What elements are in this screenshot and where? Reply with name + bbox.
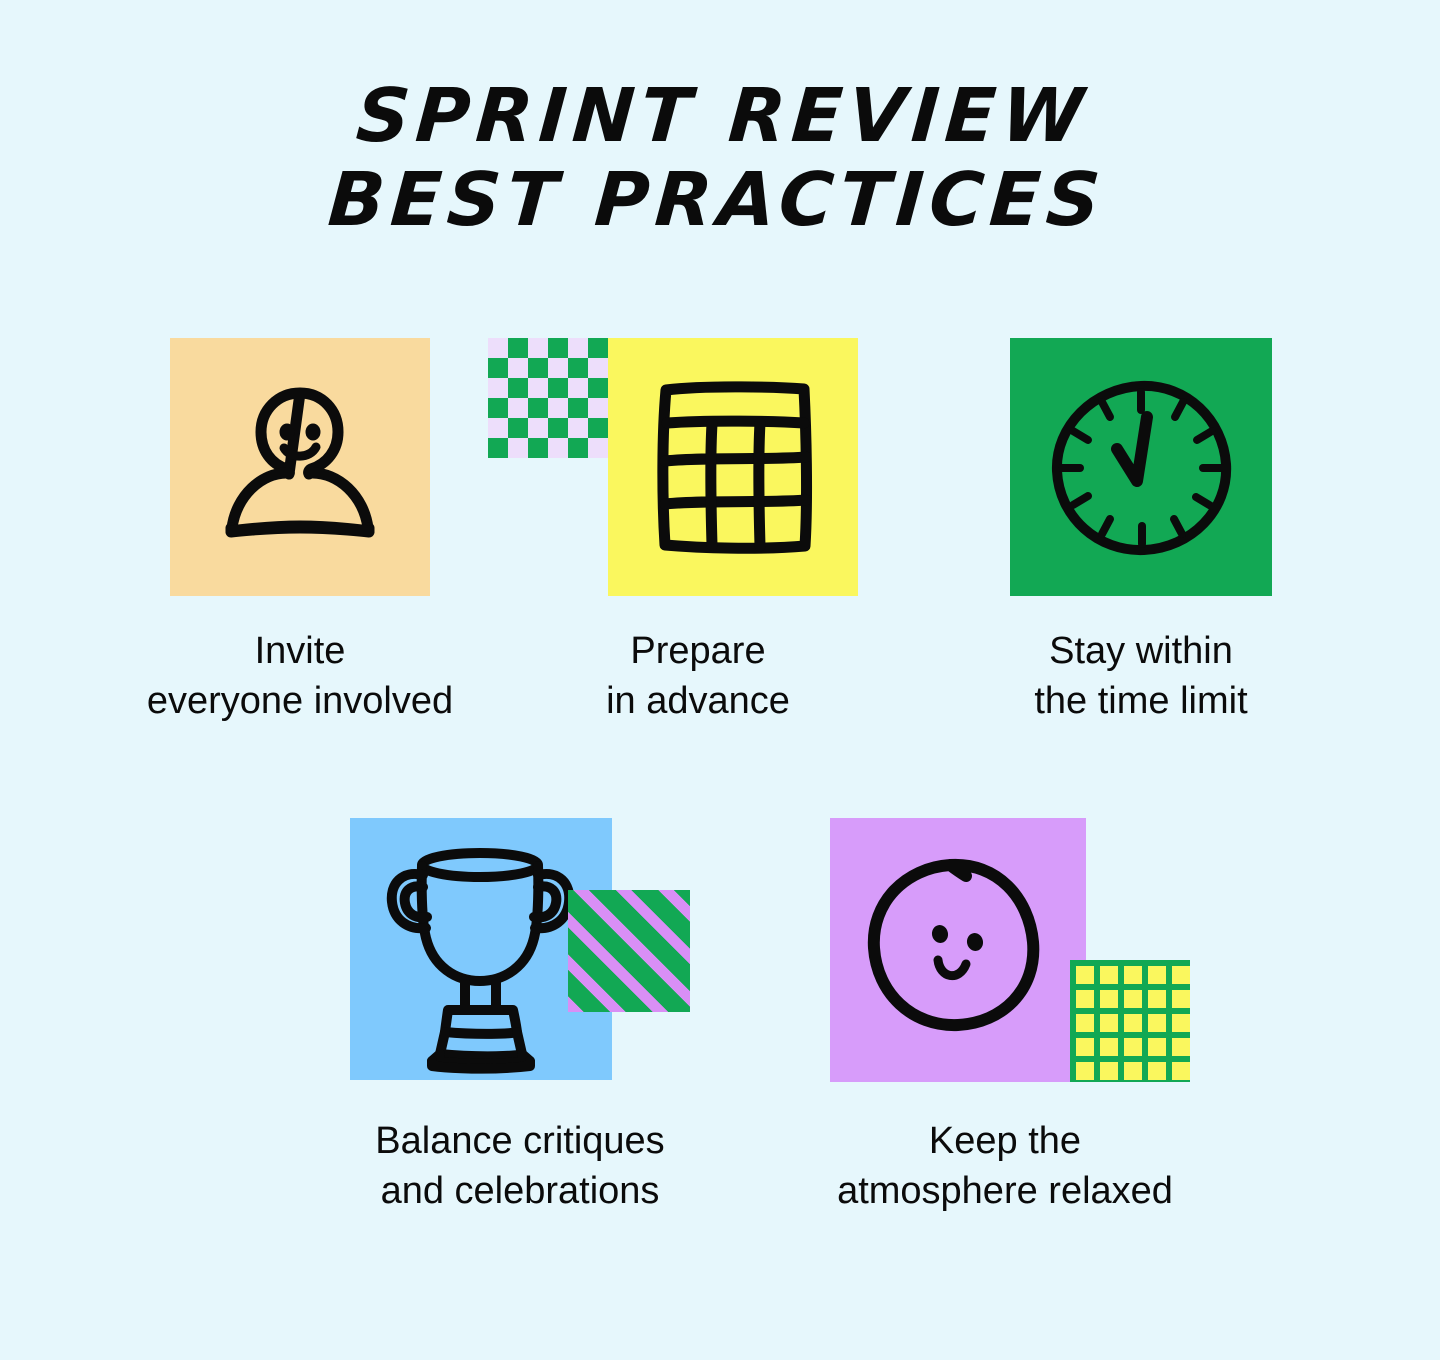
card-balance-caption: Balance critiques and celebrations <box>310 1116 730 1216</box>
checkerboard-pattern <box>488 338 608 458</box>
clock-icon <box>1010 338 1272 596</box>
diagonal-stripes-pattern <box>568 890 690 1012</box>
smile <box>284 447 316 456</box>
table-grid-icon <box>608 338 858 596</box>
eye-right <box>965 932 984 953</box>
card-time-limit-caption: Stay within the time limit <box>940 626 1342 726</box>
person-icon <box>170 338 430 596</box>
infographic-poster: SPRINT REVIEW BEST PRACTICES In <box>0 0 1440 1360</box>
card-prepare-caption: Prepare in advance <box>528 626 868 726</box>
grid-pattern <box>1070 960 1190 1082</box>
smiley-face-icon <box>830 818 1086 1082</box>
page-title: SPRINT REVIEW BEST PRACTICES <box>0 74 1440 242</box>
eye-left <box>930 924 949 945</box>
card-invite-caption: Invite everyone involved <box>110 626 490 726</box>
eye-left <box>280 424 295 441</box>
card-relaxed-caption: Keep the atmosphere relaxed <box>755 1116 1255 1216</box>
smile <box>938 960 966 976</box>
eye-right <box>306 424 321 441</box>
